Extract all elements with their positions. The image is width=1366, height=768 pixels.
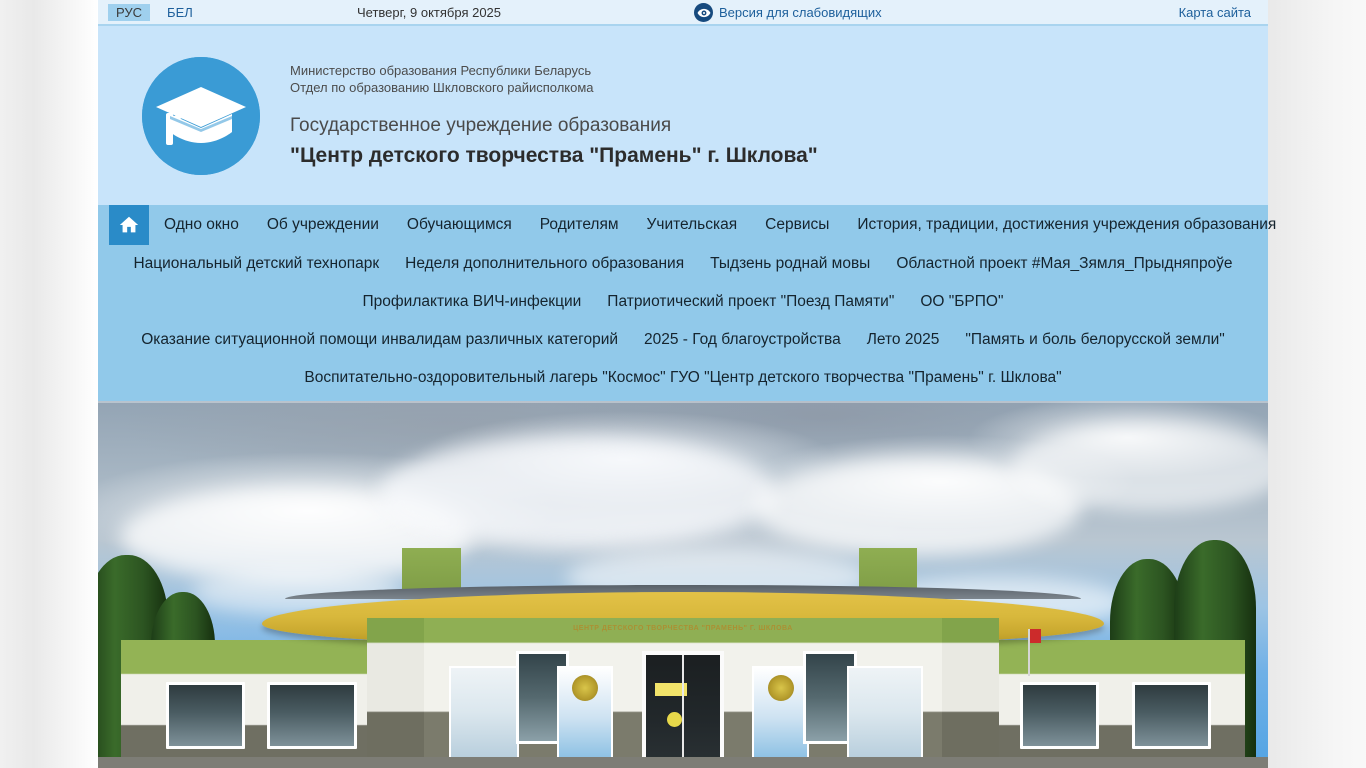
door-notice — [655, 683, 688, 696]
window — [1020, 682, 1099, 749]
window — [1132, 682, 1211, 749]
hero-banner[interactable]: ЦЕНТР ДЕТСКОГО ТВОРЧЕСТВА "ПРАМЕНЬ" Г. Ш… — [98, 401, 1268, 768]
info-board — [449, 666, 518, 759]
door-decoration — [667, 712, 682, 727]
ground-pavement — [98, 757, 1268, 768]
nav-row-5: Воспитательно-оздоровительный лагерь "Ко… — [98, 359, 1268, 397]
graduation-cap-logo[interactable] — [142, 57, 260, 175]
ministry-line-1: Министерство образования Республики Бела… — [290, 62, 1190, 79]
language-option-rus[interactable]: РУС — [108, 4, 150, 21]
entrance-door — [642, 651, 724, 768]
nav-item-servisy[interactable]: Сервисы — [752, 206, 842, 244]
info-board — [847, 666, 923, 759]
visually-impaired-label: Версия для слабовидящих — [719, 5, 882, 20]
page-root: РУС БЕЛ Четверг, 9 октября 2025 Версия д… — [0, 0, 1366, 768]
language-option-bel[interactable]: БЕЛ — [159, 4, 201, 21]
eye-icon — [694, 3, 713, 22]
window — [166, 682, 245, 749]
page-shadow-right — [1268, 0, 1366, 768]
page-shadow-left — [0, 0, 98, 768]
nav-item-tydzen-movy[interactable]: Тыдзень роднай мовы — [697, 245, 883, 283]
top-bar: РУС БЕЛ Четверг, 9 октября 2025 Версия д… — [98, 0, 1268, 26]
nav-item-lager-kosmos[interactable]: Воспитательно-оздоровительный лагерь "Ко… — [291, 359, 1074, 397]
site-header: Министерство образования Республики Бела… — [98, 26, 1268, 205]
emblem-icon — [572, 675, 598, 701]
nav-row-3: Профилактика ВИЧ-инфекции Патриотический… — [98, 283, 1268, 321]
ministry-line-2: Отдел по образованию Шкловского райиспол… — [290, 79, 1190, 96]
nav-item-uchitelskaya[interactable]: Учительская — [634, 206, 751, 244]
sitemap-link[interactable]: Карта сайта — [1179, 5, 1251, 20]
current-date: Четверг, 9 октября 2025 — [357, 5, 501, 20]
organization-type: Государственное учреждение образования — [290, 113, 1190, 138]
nav-item-poezd-pamyati[interactable]: Патриотический проект "Поезд Памяти" — [594, 283, 907, 321]
nav-item-nedelya-do[interactable]: Неделя дополнительного образования — [392, 245, 697, 283]
main-navigation: Одно окно Об учреждении Обучающимся Роди… — [98, 205, 1268, 401]
nav-item-profilaktika-vich[interactable]: Профилактика ВИЧ-инфекции — [350, 283, 595, 321]
building-photo: ЦЕНТР ДЕТСКОГО ТВОРЧЕСТВА "ПРАМЕНЬ" Г. Ш… — [98, 401, 1268, 768]
home-icon[interactable] — [109, 205, 149, 245]
header-text-block: Министерство образования Республики Бела… — [290, 62, 1190, 169]
site-container: РУС БЕЛ Четверг, 9 октября 2025 Версия д… — [98, 0, 1268, 768]
nav-item-situacionnaya-pomoshch[interactable]: Оказание ситуационной помощи инвалидам р… — [128, 321, 631, 359]
nav-item-oblastnoy-proekt[interactable]: Областной проект #Мая_Зямля_Прыдняпроўе — [883, 245, 1245, 283]
page-title: "Центр детского творчества "Прамень" г. … — [290, 142, 1190, 169]
nav-item-obuchayushchimsya[interactable]: Обучающимся — [394, 206, 525, 244]
building-porch: ЦЕНТР ДЕТСКОГО ТВОРЧЕСТВА "ПРАМЕНЬ" Г. Ш… — [367, 618, 999, 768]
flag-icon — [1028, 629, 1030, 677]
nav-row-4: Оказание ситуационной помощи инвалидам р… — [98, 321, 1268, 359]
language-switcher: РУС БЕЛ — [108, 4, 201, 21]
nav-item-leto-2025[interactable]: Лето 2025 — [854, 321, 953, 359]
porch-column — [367, 618, 424, 768]
info-board — [557, 666, 614, 759]
nav-item-pamyat-i-bol[interactable]: "Память и боль белорусской земли" — [952, 321, 1237, 359]
nav-row-1: Одно окно Об учреждении Обучающимся Роди… — [98, 205, 1268, 245]
nav-row-2: Национальный детский технопарк Неделя до… — [98, 245, 1268, 283]
building-sign-text: ЦЕНТР ДЕТСКОГО ТВОРЧЕСТВА "ПРАМЕНЬ" Г. Ш… — [506, 624, 860, 644]
porch-column — [942, 618, 999, 768]
nav-item-tehnopark[interactable]: Национальный детский технопарк — [120, 245, 392, 283]
nav-item-brpo[interactable]: ОО "БРПО" — [907, 283, 1016, 321]
window — [267, 682, 357, 749]
info-board — [752, 666, 809, 759]
nav-item-roditelyam[interactable]: Родителям — [527, 206, 632, 244]
nav-item-odno-okno[interactable]: Одно окно — [151, 206, 252, 244]
emblem-icon — [768, 675, 794, 701]
nav-item-god-blagoustroystva[interactable]: 2025 - Год благоустройства — [631, 321, 854, 359]
visually-impaired-link[interactable]: Версия для слабовидящих — [694, 3, 882, 22]
hero-top-edge — [98, 401, 1268, 403]
nav-item-ob-uchrezhdenii[interactable]: Об учреждении — [254, 206, 392, 244]
nav-item-istoriya[interactable]: История, традиции, достижения учреждения… — [844, 206, 1289, 244]
cloud — [379, 438, 777, 548]
